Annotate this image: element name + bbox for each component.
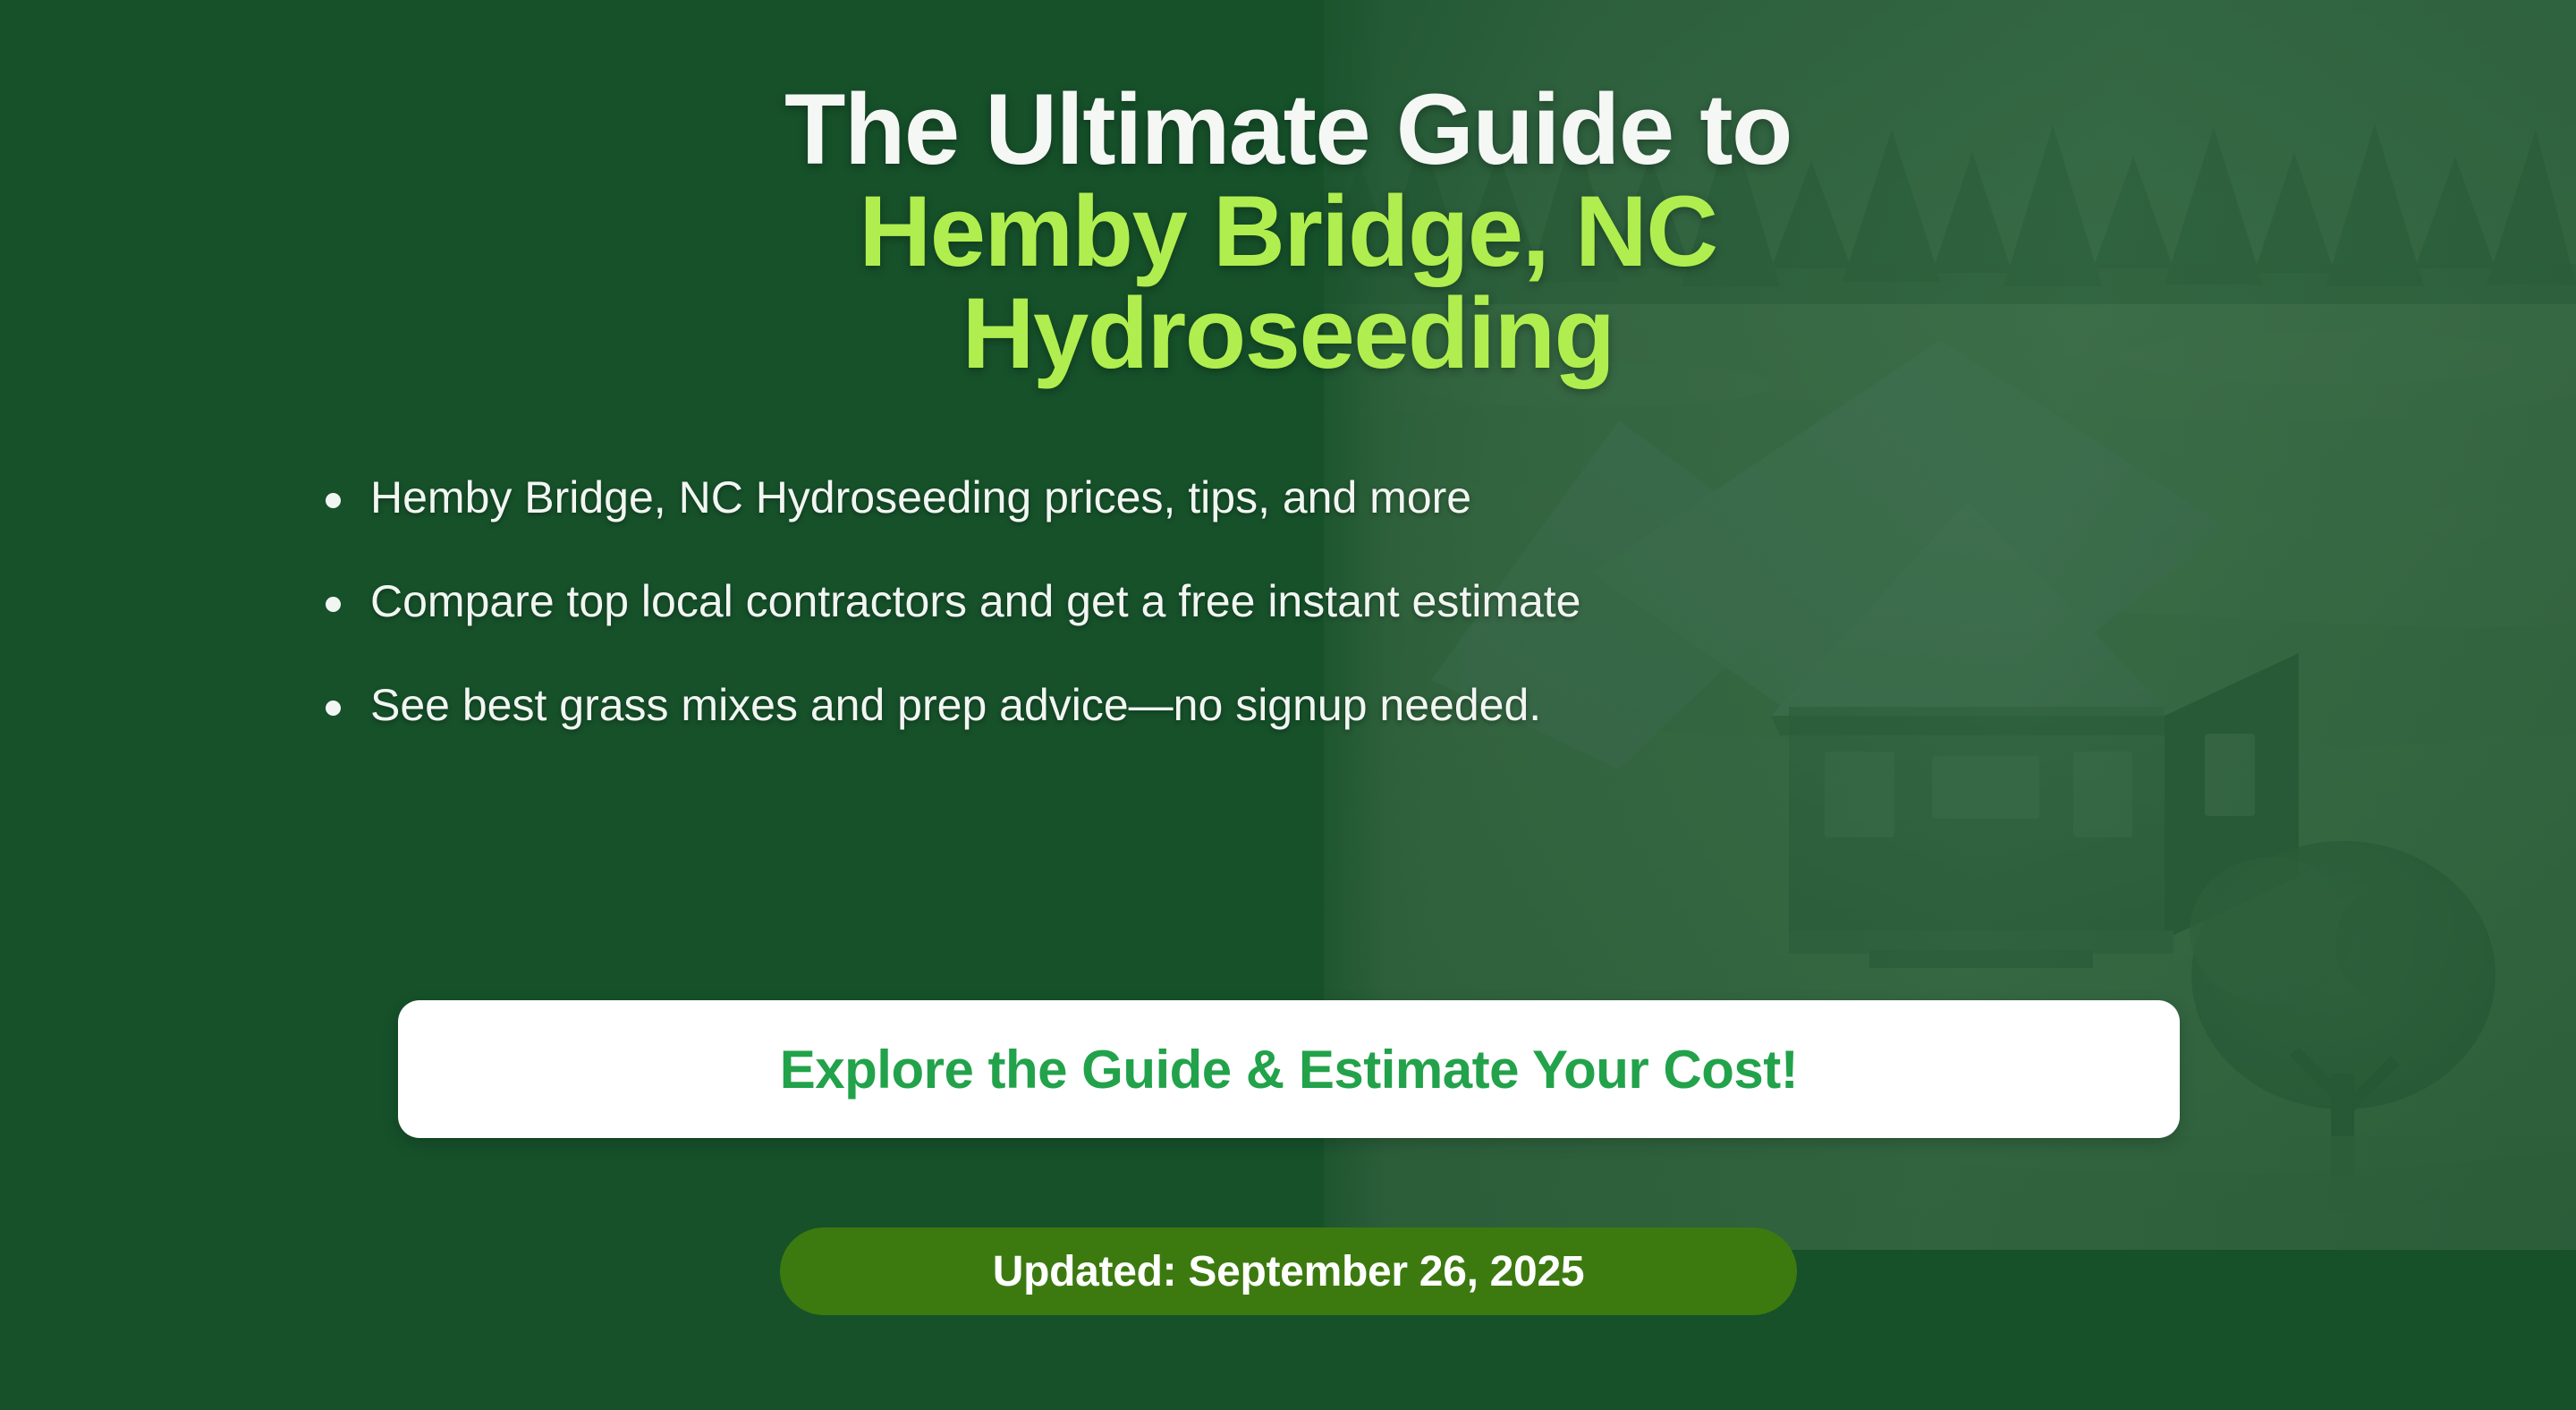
badge-container: Updated: September 26, 2025 — [780, 1227, 1797, 1315]
list-item: Hemby Bridge, NC Hydroseeding prices, ti… — [318, 471, 2197, 524]
headline-line-3: Hydroseeding — [0, 283, 2576, 385]
bullet-dot-icon — [326, 597, 341, 612]
list-item-label: Hemby Bridge, NC Hydroseeding prices, ti… — [370, 472, 1471, 522]
page-title: The Ultimate Guide to Hemby Bridge, NC H… — [0, 79, 2576, 386]
headline-line-1: The Ultimate Guide to — [0, 79, 2576, 181]
hero-banner: The Ultimate Guide to Hemby Bridge, NC H… — [0, 0, 2576, 1410]
hero-content: The Ultimate Guide to Hemby Bridge, NC H… — [0, 0, 2576, 1410]
list-item: Compare top local contractors and get a … — [318, 575, 2197, 628]
list-item-label: Compare top local contractors and get a … — [370, 576, 1581, 626]
list-item-label: See best grass mixes and prep advice—no … — [370, 680, 1541, 730]
cta-button-label: Explore the Guide & Estimate Your Cost! — [780, 1039, 1799, 1100]
headline-line-2: Hemby Bridge, NC — [0, 181, 2576, 283]
cta-container: Explore the Guide & Estimate Your Cost! — [398, 1000, 2180, 1138]
explore-guide-button[interactable]: Explore the Guide & Estimate Your Cost! — [398, 1000, 2180, 1138]
bullet-dot-icon — [326, 701, 341, 716]
benefit-list: Hemby Bridge, NC Hydroseeding prices, ti… — [318, 471, 2197, 732]
list-item: See best grass mixes and prep advice—no … — [318, 679, 2197, 732]
updated-date-badge: Updated: September 26, 2025 — [780, 1227, 1797, 1315]
bullet-dot-icon — [326, 493, 341, 508]
updated-date-label: Updated: September 26, 2025 — [993, 1247, 1585, 1296]
